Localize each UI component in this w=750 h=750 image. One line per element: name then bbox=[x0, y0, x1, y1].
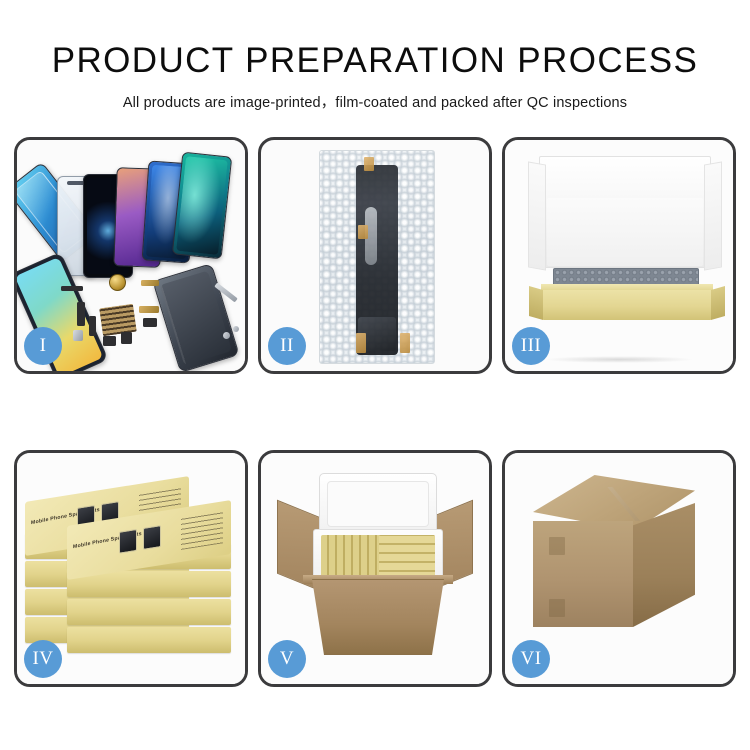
yellow-flat-box bbox=[541, 290, 713, 320]
step-panel-4: Mobile Phone Spare Parts Mobile Phone Sp… bbox=[14, 450, 248, 687]
spare-part bbox=[139, 306, 159, 313]
spare-part bbox=[61, 286, 83, 291]
page-title: PRODUCT PREPARATION PROCESS bbox=[0, 40, 750, 82]
step-panel-2: II bbox=[258, 137, 492, 374]
step-badge-3: III bbox=[512, 327, 550, 365]
phone-back-housing-graphic bbox=[152, 263, 239, 371]
header: PRODUCT PREPARATION PROCESS All products… bbox=[0, 40, 750, 112]
box-screen-image bbox=[143, 525, 161, 550]
box-spec-text-lines bbox=[181, 509, 223, 550]
step-badge-1: I bbox=[24, 327, 62, 365]
styrofoam-lid bbox=[319, 473, 437, 535]
spare-part bbox=[89, 316, 96, 336]
drop-shadow bbox=[544, 356, 694, 363]
step-panel-1: I bbox=[14, 137, 248, 374]
carton-body bbox=[303, 579, 453, 655]
spare-part bbox=[143, 318, 157, 327]
box-layer bbox=[67, 599, 231, 625]
step-badge-6: VI bbox=[512, 640, 550, 678]
box-layer bbox=[67, 627, 231, 653]
step-badge-2: II bbox=[268, 327, 306, 365]
carton-tab bbox=[549, 537, 565, 555]
tape-piece bbox=[364, 157, 374, 171]
step-panel-5: V bbox=[258, 450, 492, 687]
step-panel-3: III bbox=[502, 137, 736, 374]
box-stack: Mobile Phone Spare Parts Mobile Phone Sp… bbox=[25, 467, 235, 667]
box-screen-image bbox=[119, 529, 137, 554]
process-step-grid: I II bbox=[14, 137, 736, 687]
yellow-boxes-row bbox=[379, 535, 435, 579]
bubble-wrap-bag bbox=[319, 150, 435, 364]
spare-part bbox=[103, 336, 116, 346]
spare-part bbox=[121, 332, 132, 344]
product-preparation-process-infographic: PRODUCT PREPARATION PROCESS All products… bbox=[0, 0, 750, 750]
screw-part bbox=[233, 326, 239, 332]
spare-part bbox=[73, 330, 83, 341]
step-badge-4: IV bbox=[24, 640, 62, 678]
tape-piece bbox=[356, 333, 366, 353]
spare-part bbox=[141, 280, 159, 286]
carton-front-face bbox=[533, 521, 633, 627]
tape-piece bbox=[400, 333, 410, 353]
vibrator-motor-part bbox=[109, 274, 126, 291]
foam-sheet bbox=[547, 198, 703, 266]
tape-piece bbox=[358, 225, 368, 239]
screw-part bbox=[223, 332, 230, 339]
page-subtitle: All products are image-printed，film-coat… bbox=[0, 91, 750, 112]
step-badge-5: V bbox=[268, 640, 306, 678]
phone-teal-screen-graphic bbox=[172, 152, 232, 260]
step-panel-6: VI bbox=[502, 450, 736, 687]
carton-tab bbox=[549, 599, 565, 617]
wrapped-display-part bbox=[356, 165, 398, 355]
spare-part bbox=[77, 302, 85, 326]
